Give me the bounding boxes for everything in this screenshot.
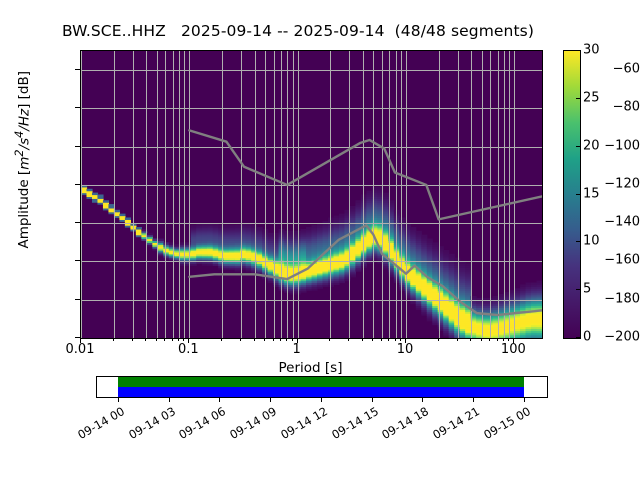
x-axis-label: Period [s] xyxy=(80,360,541,376)
coverage-tick-mark xyxy=(118,398,119,402)
x-tick-mark-minor xyxy=(489,338,490,341)
coverage-tick-label: 09-14 00 xyxy=(71,404,126,444)
y-tick-label: −200 xyxy=(594,330,640,345)
x-tick-mark-minor xyxy=(132,338,133,341)
x-tick-mark-minor xyxy=(264,338,265,341)
coverage-tick-label: 09-15 00 xyxy=(478,404,533,444)
x-tick-mark-minor xyxy=(381,338,382,341)
x-tick-mark-minor xyxy=(164,338,165,341)
colorbar-tick-mark xyxy=(576,98,581,99)
colorbar-tick-mark xyxy=(576,337,581,338)
coverage-segment-top xyxy=(118,377,524,387)
y-tick-mark xyxy=(75,260,80,261)
colorbar-tick-label: 25 xyxy=(583,90,600,105)
x-tick-mark-minor xyxy=(221,338,222,341)
x-tick-mark-minor xyxy=(395,338,396,341)
x-tick-mark-minor xyxy=(329,338,330,341)
colorbar-tick-label: 0 xyxy=(583,330,591,345)
colorbar-tick-mark xyxy=(576,50,581,51)
x-tick-mark-minor xyxy=(497,338,498,341)
coverage-tick-label: 09-14 09 xyxy=(224,404,279,444)
x-tick-mark-minor xyxy=(348,338,349,341)
coverage-tick-mark xyxy=(524,398,525,402)
colorbar-tick-label: 5 xyxy=(583,282,591,297)
y-tick-mark xyxy=(75,299,80,300)
coverage-tick-mark xyxy=(422,398,423,402)
ppsd-figure: BW.SCE..HHZ 2025-09-14 -- 2025-09-14 (48… xyxy=(0,0,640,480)
colorbar-tick-mark xyxy=(576,194,581,195)
coverage-timeline[interactable] xyxy=(96,376,548,398)
x-tick-label: 0.1 xyxy=(158,342,218,357)
colorbar-tick-label: 10 xyxy=(583,234,600,249)
coverage-tick-label: 09-14 15 xyxy=(325,404,380,444)
x-tick-mark-minor xyxy=(145,338,146,341)
x-tick-mark-minor xyxy=(400,338,401,341)
y-tick-label: −100 xyxy=(594,138,640,153)
coverage-segment-bottom xyxy=(118,387,524,397)
coverage-tick-mark xyxy=(169,398,170,402)
x-tick-mark-minor xyxy=(388,338,389,341)
coverage-tick-mark xyxy=(372,398,373,402)
coverage-tick-mark xyxy=(219,398,220,402)
colorbar-tick-label: 30 xyxy=(583,43,600,58)
colorbar-tick-mark xyxy=(576,146,581,147)
x-tick-mark-minor xyxy=(178,338,179,341)
colorbar-tick-label: 15 xyxy=(583,186,600,201)
y-tick-mark xyxy=(75,146,80,147)
colorbar-tick-mark xyxy=(576,289,581,290)
x-tick-mark-minor xyxy=(113,338,114,341)
x-tick-mark-minor xyxy=(286,338,287,341)
y-tick-label: −120 xyxy=(594,176,640,191)
coverage-tick-label: 09-14 21 xyxy=(427,404,482,444)
ppsd-density-canvas xyxy=(81,51,542,338)
x-tick-mark-minor xyxy=(372,338,373,341)
x-tick-mark-minor xyxy=(481,338,482,341)
coverage-tick-mark xyxy=(321,398,322,402)
x-tick-mark-minor xyxy=(172,338,173,341)
x-tick-mark-minor xyxy=(503,338,504,341)
coverage-tick-mark xyxy=(473,398,474,402)
coverage-tick-label: 09-14 12 xyxy=(274,404,329,444)
coverage-tick-label: 09-14 18 xyxy=(376,404,431,444)
y-tick-label: −160 xyxy=(594,253,640,268)
y-tick-label: −80 xyxy=(594,100,640,115)
x-tick-mark-minor xyxy=(254,338,255,341)
x-tick-mark-minor xyxy=(438,338,439,341)
y-tick-label: −180 xyxy=(594,291,640,306)
x-tick-mark-minor xyxy=(280,338,281,341)
x-tick-mark-minor xyxy=(362,338,363,341)
x-tick-mark-minor xyxy=(273,338,274,341)
colorbar-tick-label: 20 xyxy=(583,138,600,153)
y-tick-label: −140 xyxy=(594,215,640,230)
coverage-tick-mark xyxy=(270,398,271,402)
x-tick-mark-minor xyxy=(508,338,509,341)
x-tick-mark-minor xyxy=(292,338,293,341)
y-tick-mark xyxy=(75,69,80,70)
x-tick-label: 10 xyxy=(375,342,435,357)
colorbar-tick-mark xyxy=(576,241,581,242)
x-tick-label: 0.01 xyxy=(50,342,110,357)
y-tick-mark xyxy=(75,107,80,108)
x-tick-mark-minor xyxy=(156,338,157,341)
x-tick-mark-minor xyxy=(183,338,184,341)
y-axis-label: Amplitude [m2/s4/Hz] [dB] xyxy=(12,10,32,310)
x-tick-label: 100 xyxy=(483,342,543,357)
coverage-tick-label: 09-14 03 xyxy=(122,404,177,444)
y-tick-label: −60 xyxy=(594,62,640,77)
x-tick-mark-minor xyxy=(470,338,471,341)
ppsd-plot-area[interactable] xyxy=(80,50,543,339)
y-tick-mark xyxy=(75,222,80,223)
coverage-tick-label: 09-14 06 xyxy=(173,404,228,444)
x-tick-mark-minor xyxy=(457,338,458,341)
y-tick-mark xyxy=(75,184,80,185)
x-tick-label: 1 xyxy=(267,342,327,357)
x-tick-mark-minor xyxy=(240,338,241,341)
figure-title: BW.SCE..HHZ 2025-09-14 -- 2025-09-14 (48… xyxy=(0,22,596,40)
